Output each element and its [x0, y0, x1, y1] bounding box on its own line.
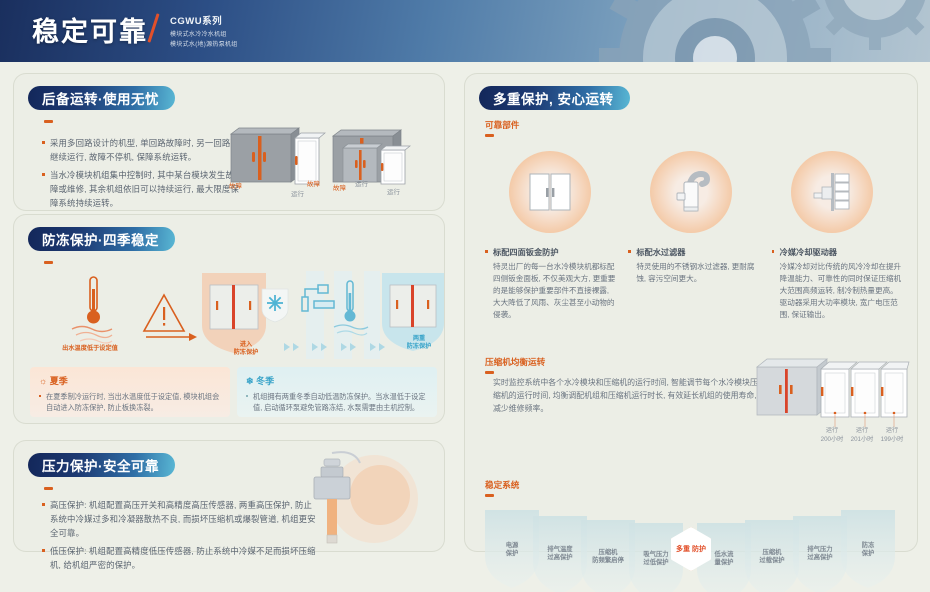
- refrigerant-cooled-driver-icon: [791, 151, 873, 233]
- list-item: 当水冷模块机组集中控制时, 其中某台模块发生故障或维修, 其余机组依旧可以持续运…: [42, 168, 242, 210]
- section2-body: 实时监控系统中各个水冷模块和压缩机的运行时间, 智能调节每个水冷模块压缩机的运行…: [493, 376, 758, 415]
- panel1-accent-dash: [44, 120, 53, 123]
- part-body: 冷媒冷却对比传统的风冷冷却在提升降温能力、可靠性的同时保证压缩机大范围高频运转,…: [772, 261, 905, 321]
- machine-label: 运行: [355, 178, 368, 188]
- part-heading: 冷媒冷却驱动器: [772, 246, 905, 258]
- module-runtime-2: 运行 201小时: [845, 425, 879, 443]
- title-divider-slash: [147, 13, 159, 42]
- thermometer-icon: [72, 277, 112, 343]
- panel1-bullet-list: 采用多回路设计的机型, 单回路故障时, 另一回路可继续运行, 故障不停机, 保障…: [42, 136, 242, 214]
- part-text-3: 冷媒冷却驱动器 冷媒冷却对比传统的风冷冷却在提升降温能力、可靠性的同时保证压缩机…: [772, 246, 905, 321]
- shield-label: 压缩机 防频繁启停: [584, 549, 632, 565]
- summer-title-text: 夏季: [50, 376, 68, 386]
- part-body: 特灵出厂的每一台水冷模块机都标配四侧钣金面板, 不仅美观大方, 更重要的是能够保…: [485, 261, 618, 321]
- winter-body: 机组拥有两重冬季自动低温防冻保护。当水温低于设定值, 启动循环泵避免管路冻结, …: [246, 391, 428, 413]
- page-header: 稳定可靠 CGWU系列 模块式水冷冷水机组 模块式水(地)源热泵机组: [0, 0, 930, 62]
- panel3-heading: 压力保护·安全可靠: [28, 453, 175, 477]
- warning-triangle-icon: [144, 295, 184, 331]
- flow-caption-enter-protection: 进入 防冻保护: [216, 341, 276, 357]
- sheet-metal-panel-icon: [509, 151, 591, 233]
- winter-title: ❄ 冬季: [246, 374, 428, 387]
- part-circle-1: [479, 142, 620, 242]
- shield-label: 电源 保护: [488, 542, 536, 558]
- module-runtime-3: 运行 199小时: [875, 425, 909, 443]
- shield-label: 防冻 保护: [844, 542, 892, 558]
- panel3-accent-dash: [44, 487, 53, 490]
- shield-label: 排气温度 过高保护: [536, 546, 584, 562]
- protection-shield-row: 电源 保护 排气温度 过高保护 压缩机 防频繁启停 吸气压力 过低保护 低水流 …: [479, 502, 903, 592]
- header-subtitle-group: CGWU系列 模块式水冷冷水机组 模块式水(地)源热泵机组: [170, 13, 238, 48]
- series-desc-line2: 模块式水(地)源热泵机组: [170, 39, 238, 48]
- part-body: 特灵使用的不锈钢水过滤器, 更耐腐蚀, 容污空间更大。: [628, 261, 761, 285]
- panel1-module-diagram: 故障 运行 故障 故障 运行 运行: [225, 120, 430, 210]
- water-filter-icon: [650, 151, 732, 233]
- panelR-heading: 多重保护, 安心运转: [479, 86, 630, 110]
- runtime-hours: 199小时: [875, 434, 909, 443]
- section2-module-diagram: 运行 200小时 运行 201小时 运行 199小时: [755, 349, 910, 444]
- panel-pressure-protection: 压力保护·安全可靠 高压保护: 机组配置高压开关和高精度高压传感器, 两重高压保…: [14, 441, 444, 551]
- summer-info-box: ☼ 夏季 在夏季制冷运行时, 当出水温度低于设定值, 模块机组会自动进入防冻保护…: [30, 367, 230, 417]
- panel2-accent-dash: [44, 261, 53, 264]
- section-title-reliable-parts: 可靠部件: [485, 119, 519, 131]
- shield-label: 压缩机 过载保护: [748, 549, 796, 565]
- part-text-2: 标配水过滤器 特灵使用的不锈钢水过滤器, 更耐腐蚀, 容污空间更大。: [628, 246, 761, 321]
- series-name: CGWU系列: [170, 13, 238, 27]
- part-circle-2: [620, 142, 761, 242]
- part-heading: 标配水过滤器: [628, 246, 761, 258]
- machine-label: 故障: [229, 180, 242, 190]
- flow-caption-dual-protection: 两重 防冻保护: [389, 335, 449, 351]
- panel2-flow-diagram: 出水温度低于设定值 进入 防冻保护 两重 防冻保护: [34, 267, 444, 367]
- runtime-state: 运行: [875, 425, 909, 434]
- section-title-stable-system: 稳定系统: [485, 479, 519, 491]
- panel2-heading: 防冻保护·四季稳定: [28, 227, 175, 251]
- summer-title: ☼ 夏季: [39, 374, 221, 387]
- runtime-state: 运行: [845, 425, 879, 434]
- center-badge-text: 多重 防护: [676, 545, 706, 554]
- sun-icon: ☼: [39, 376, 47, 386]
- reliable-parts-text-row: 标配四面钣金防护 特灵出厂的每一台水冷模块机都标配四侧钣金面板, 不仅美观大方,…: [485, 246, 905, 321]
- series-desc-line1: 模块式水冷冷水机组: [170, 29, 238, 38]
- machine-label: 故障: [307, 178, 320, 188]
- pressure-sensor-icon: [296, 449, 426, 549]
- machine-label: 运行: [291, 188, 304, 198]
- runtime-hours: 201小时: [845, 434, 879, 443]
- list-item: 采用多回路设计的机型, 单回路故障时, 另一回路可继续运行, 故障不停机, 保障…: [42, 136, 242, 164]
- runtime-state: 运行: [815, 425, 849, 434]
- shield-label: 排气压力 过高保护: [796, 546, 844, 562]
- machine-label: 运行: [387, 186, 400, 196]
- panel1-heading: 后备运转·使用无忧: [28, 86, 175, 110]
- page-title: 稳定可靠: [32, 10, 148, 49]
- machine-label: 故障: [333, 182, 346, 192]
- section-title-balanced-operation: 压缩机均衡运转: [485, 356, 545, 368]
- section3-accent-dash: [485, 494, 494, 497]
- section2-accent-dash: [485, 371, 494, 374]
- list-item: 高压保护: 机组配置高压开关和高精度高压传感器, 两重高压保护, 防止系统中冷媒…: [42, 498, 317, 540]
- part-heading: 标配四面钣金防护: [485, 246, 618, 258]
- panel-antifreeze-protection: 防冻保护·四季稳定: [14, 215, 444, 423]
- part-circle-3: [762, 142, 903, 242]
- part-text-1: 标配四面钣金防护 特灵出厂的每一台水冷模块机都标配四侧钣金面板, 不仅美观大方,…: [485, 246, 618, 321]
- gear-decoration-icon: [500, 0, 930, 62]
- list-item: 低压保护: 机组配置高精度低压传感器, 防止系统中冷媒不足而损坏压缩机, 给机组…: [42, 544, 317, 572]
- section1-accent-dash: [485, 134, 494, 137]
- panel-multi-protection: 多重保护, 安心运转 可靠部件: [465, 74, 917, 551]
- snowflake-icon: ❄: [246, 376, 254, 386]
- summer-body: 在夏季制冷运行时, 当出水温度低于设定值, 模块机组会自动进入防冻保护, 防止板…: [39, 391, 221, 413]
- reliable-parts-icon-row: [479, 142, 903, 242]
- panel3-bullet-list: 高压保护: 机组配置高压开关和高精度高压传感器, 两重高压保护, 防止系统中冷媒…: [42, 498, 317, 576]
- runtime-hours: 200小时: [815, 434, 849, 443]
- flow-caption-inlet-temp: 出水温度低于设定值: [42, 345, 138, 353]
- module-runtime-1: 运行 200小时: [815, 425, 849, 443]
- winter-info-box: ❄ 冬季 机组拥有两重冬季自动低温防冻保护。当水温低于设定值, 启动循环泵避免管…: [237, 367, 437, 417]
- winter-title-text: 冬季: [256, 376, 274, 386]
